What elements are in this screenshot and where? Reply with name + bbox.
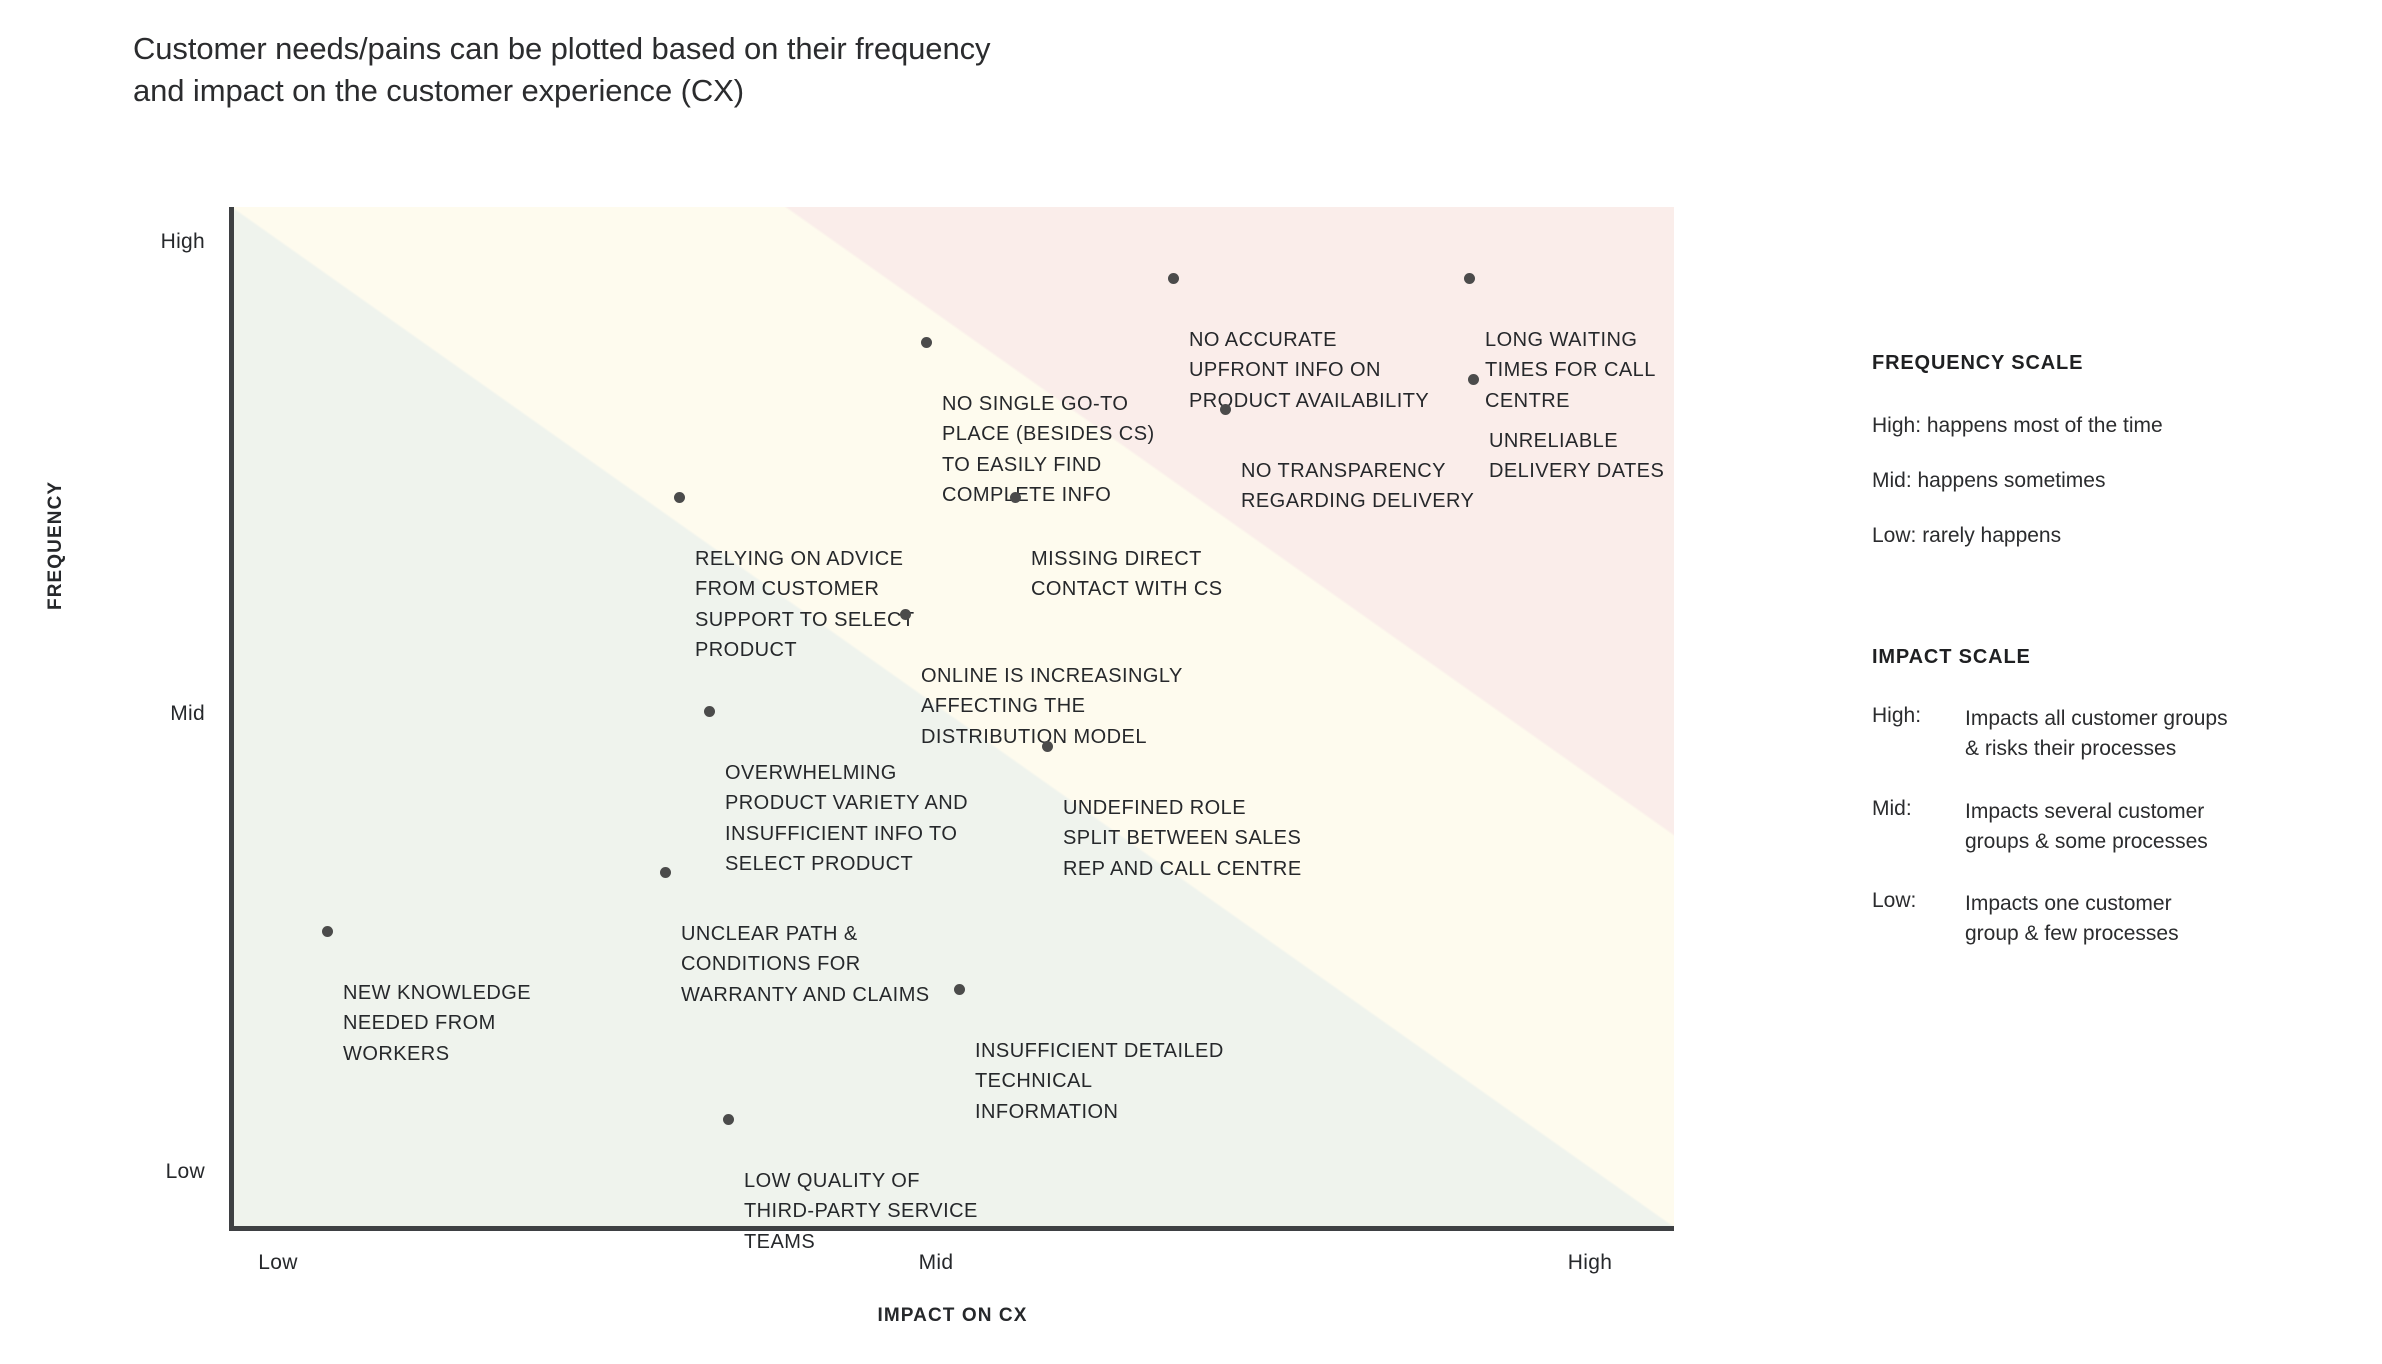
frequency-scale-item: Low: rarely happens <box>1872 521 2302 551</box>
data-point[interactable]: OVERWHELMING PRODUCT VARIETY AND INSUFFI… <box>725 697 1000 879</box>
point-marker-icon <box>723 1114 734 1125</box>
page-title: Customer needs/pains can be plotted base… <box>133 28 1533 111</box>
point-label: INSUFFICIENT DETAILED TECHNICAL INFORMAT… <box>975 1040 1224 1123</box>
point-marker-icon <box>921 337 932 348</box>
point-marker-icon <box>674 492 685 503</box>
impact-scale-heading: IMPACT SCALE <box>1872 646 2031 669</box>
point-label: NO TRANSPARENCY REGARDING DELIVERY <box>1241 460 1474 512</box>
y-axis-line <box>229 207 234 1231</box>
x-tick-high: High <box>1530 1251 1650 1275</box>
data-point[interactable]: RELYING ON ADVICE FROM CUSTOMER SUPPORT … <box>695 483 950 665</box>
data-point[interactable]: MISSING DIRECT CONTACT WITH CS <box>1031 483 1261 605</box>
point-label: NEW KNOWLEDGE NEEDED FROM WORKERS <box>343 982 531 1065</box>
point-marker-icon <box>954 984 965 995</box>
impact-scale-key: High: <box>1872 704 1921 728</box>
data-point[interactable]: LOW QUALITY OF THIRD-PARTY SERVICE TEAMS <box>744 1105 1009 1257</box>
impact-scale-item: Impacts several customer groups & some p… <box>1965 797 2365 858</box>
point-label: RELYING ON ADVICE FROM CUSTOMER SUPPORT … <box>695 548 915 661</box>
point-label: UNDEFINED ROLE SPLIT BETWEEN SALES REP A… <box>1063 797 1302 880</box>
point-marker-icon <box>1464 273 1475 284</box>
point-marker-icon <box>1168 273 1179 284</box>
y-tick-low: Low <box>85 1160 205 1184</box>
point-marker-icon <box>1042 741 1053 752</box>
data-point[interactable]: NEW KNOWLEDGE NEEDED FROM WORKERS <box>343 917 573 1069</box>
data-point[interactable]: UNDEFINED ROLE SPLIT BETWEEN SALES REP A… <box>1063 732 1328 884</box>
data-point[interactable]: UNRELIABLE DELIVERY DATES <box>1489 365 1704 487</box>
point-marker-icon <box>660 867 671 878</box>
impact-scale-item: Impacts one customer group & few process… <box>1965 889 2365 950</box>
x-axis-title: IMPACT ON CX <box>0 1305 1905 1327</box>
point-marker-icon <box>1010 492 1021 503</box>
y-axis-title: FREQUENCY <box>45 481 67 610</box>
impact-scale-key: Low: <box>1872 889 1916 913</box>
point-marker-icon <box>704 706 715 717</box>
point-label: LOW QUALITY OF THIRD-PARTY SERVICE TEAMS <box>744 1170 978 1253</box>
data-point[interactable]: NO TRANSPARENCY REGARDING DELIVERY <box>1241 395 1491 517</box>
impact-scale-item: Impacts all customer groups & risks thei… <box>1965 704 2365 765</box>
point-marker-icon <box>1220 404 1231 415</box>
data-point[interactable]: INSUFFICIENT DETAILED TECHNICAL INFORMAT… <box>975 975 1255 1127</box>
impact-scale-key: Mid: <box>1872 797 1912 821</box>
data-point[interactable]: UNCLEAR PATH & CONDITIONS FOR WARRANTY A… <box>681 858 956 1010</box>
point-marker-icon <box>1468 374 1479 385</box>
y-tick-high: High <box>85 230 205 254</box>
point-label: MISSING DIRECT CONTACT WITH CS <box>1031 548 1223 600</box>
point-marker-icon <box>900 609 911 620</box>
frequency-scale-heading: FREQUENCY SCALE <box>1872 352 2083 375</box>
point-marker-icon <box>322 926 333 937</box>
frequency-scale-item: High: happens most of the time <box>1872 411 2302 441</box>
point-label: UNRELIABLE DELIVERY DATES <box>1489 430 1664 482</box>
frequency-scale-item: Mid: happens sometimes <box>1872 466 2302 496</box>
y-tick-mid: Mid <box>85 702 205 726</box>
x-tick-low: Low <box>218 1251 338 1275</box>
point-label: UNCLEAR PATH & CONDITIONS FOR WARRANTY A… <box>681 923 930 1006</box>
data-point[interactable]: NO ACCURATE UPFRONT INFO ON PRODUCT AVAI… <box>1189 264 1479 416</box>
